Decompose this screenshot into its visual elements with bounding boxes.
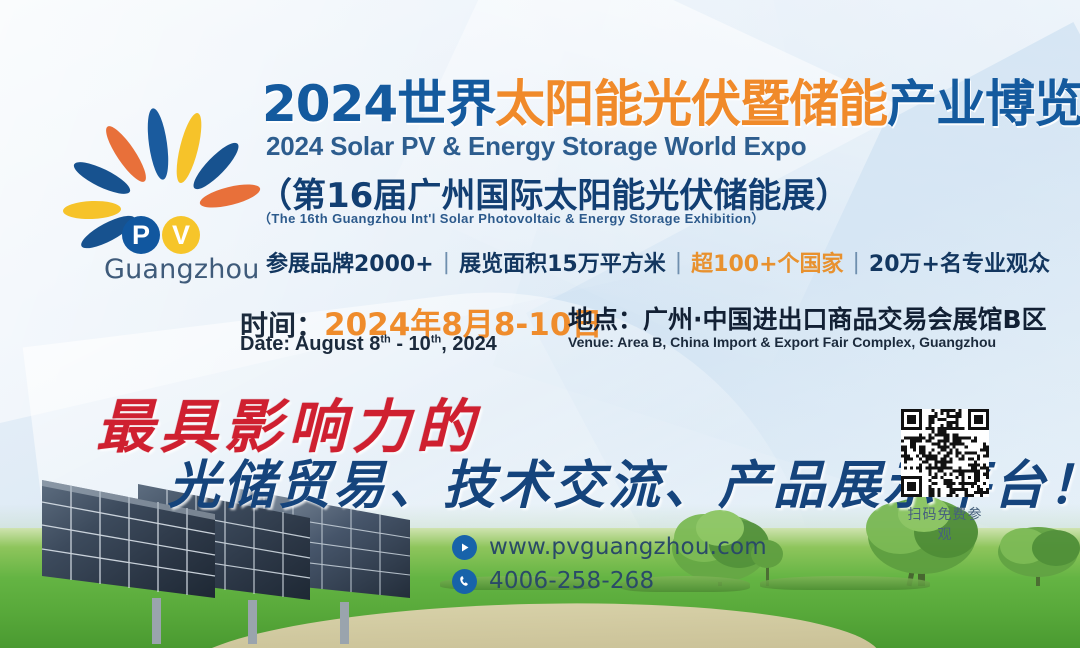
title-part-3: 产业博览会	[887, 75, 1080, 133]
venue-label-cn: 地点：	[568, 305, 643, 334]
qr-code-label: 扫码免费参观	[901, 504, 989, 544]
phone-number[interactable]: 4006-258-268	[489, 568, 654, 594]
date-english: Date: August 8th - 10th, 2024	[240, 333, 497, 356]
pv-guangzhou-logo: P V Guangzhou	[58, 104, 276, 294]
title-part-2: 太阳能光伏暨储能	[495, 75, 887, 133]
website-url[interactable]: www.pvguangzhou.com	[489, 534, 767, 560]
hedge-2	[760, 576, 930, 590]
stat-item-1: 参展品牌2000+	[266, 246, 434, 278]
logo-wordmark: Guangzhou	[104, 254, 260, 285]
contact-block: www.pvguangzhou.com 4006-258-268	[452, 534, 767, 602]
title-english: 2024 Solar PV & Energy Storage World Exp…	[266, 131, 806, 162]
stat-item-4: 20万+名专业观众	[869, 246, 1050, 278]
phone-row[interactable]: 4006-258-268	[452, 568, 767, 594]
stat-separator-1: |	[443, 250, 450, 275]
stat-item-3: 超100+个国家	[691, 246, 843, 278]
stat-separator-2: |	[675, 250, 682, 275]
play-arrow-icon	[452, 535, 477, 560]
venue-chinese: 地点：广州·中国进出口商品交易会展馆B区	[568, 300, 1047, 336]
qr-code-block[interactable]: 扫码免费参观	[901, 409, 989, 544]
subtitle-english: （The 16th Guangzhou Int'l Solar Photovol…	[258, 208, 765, 227]
venue-value-cn: 广州·中国进出口商品交易会展馆B区	[643, 305, 1047, 334]
title-part-1: 2024世界	[262, 75, 495, 133]
expo-poster: P V Guangzhou 2024世界太阳能光伏暨储能产业博览会 2024 S…	[0, 0, 1080, 648]
logo-letter-p: P	[122, 216, 160, 254]
stat-item-2: 展览面积15万平方米	[459, 246, 666, 278]
stat-separator-3: |	[853, 250, 860, 275]
venue-english: Venue: Area B, China Import & Export Fai…	[568, 334, 996, 350]
logo-letter-v: V	[162, 216, 200, 254]
website-row[interactable]: www.pvguangzhou.com	[452, 534, 767, 560]
stats-strip: 参展品牌2000+ | 展览面积15万平方米 | 超100+个国家 | 20万+…	[266, 246, 1050, 278]
pv-monogram: P V	[122, 216, 200, 254]
phone-icon	[452, 569, 477, 594]
qr-code-image[interactable]	[901, 409, 989, 497]
page-title: 2024世界太阳能光伏暨储能产业博览会	[262, 64, 1080, 136]
